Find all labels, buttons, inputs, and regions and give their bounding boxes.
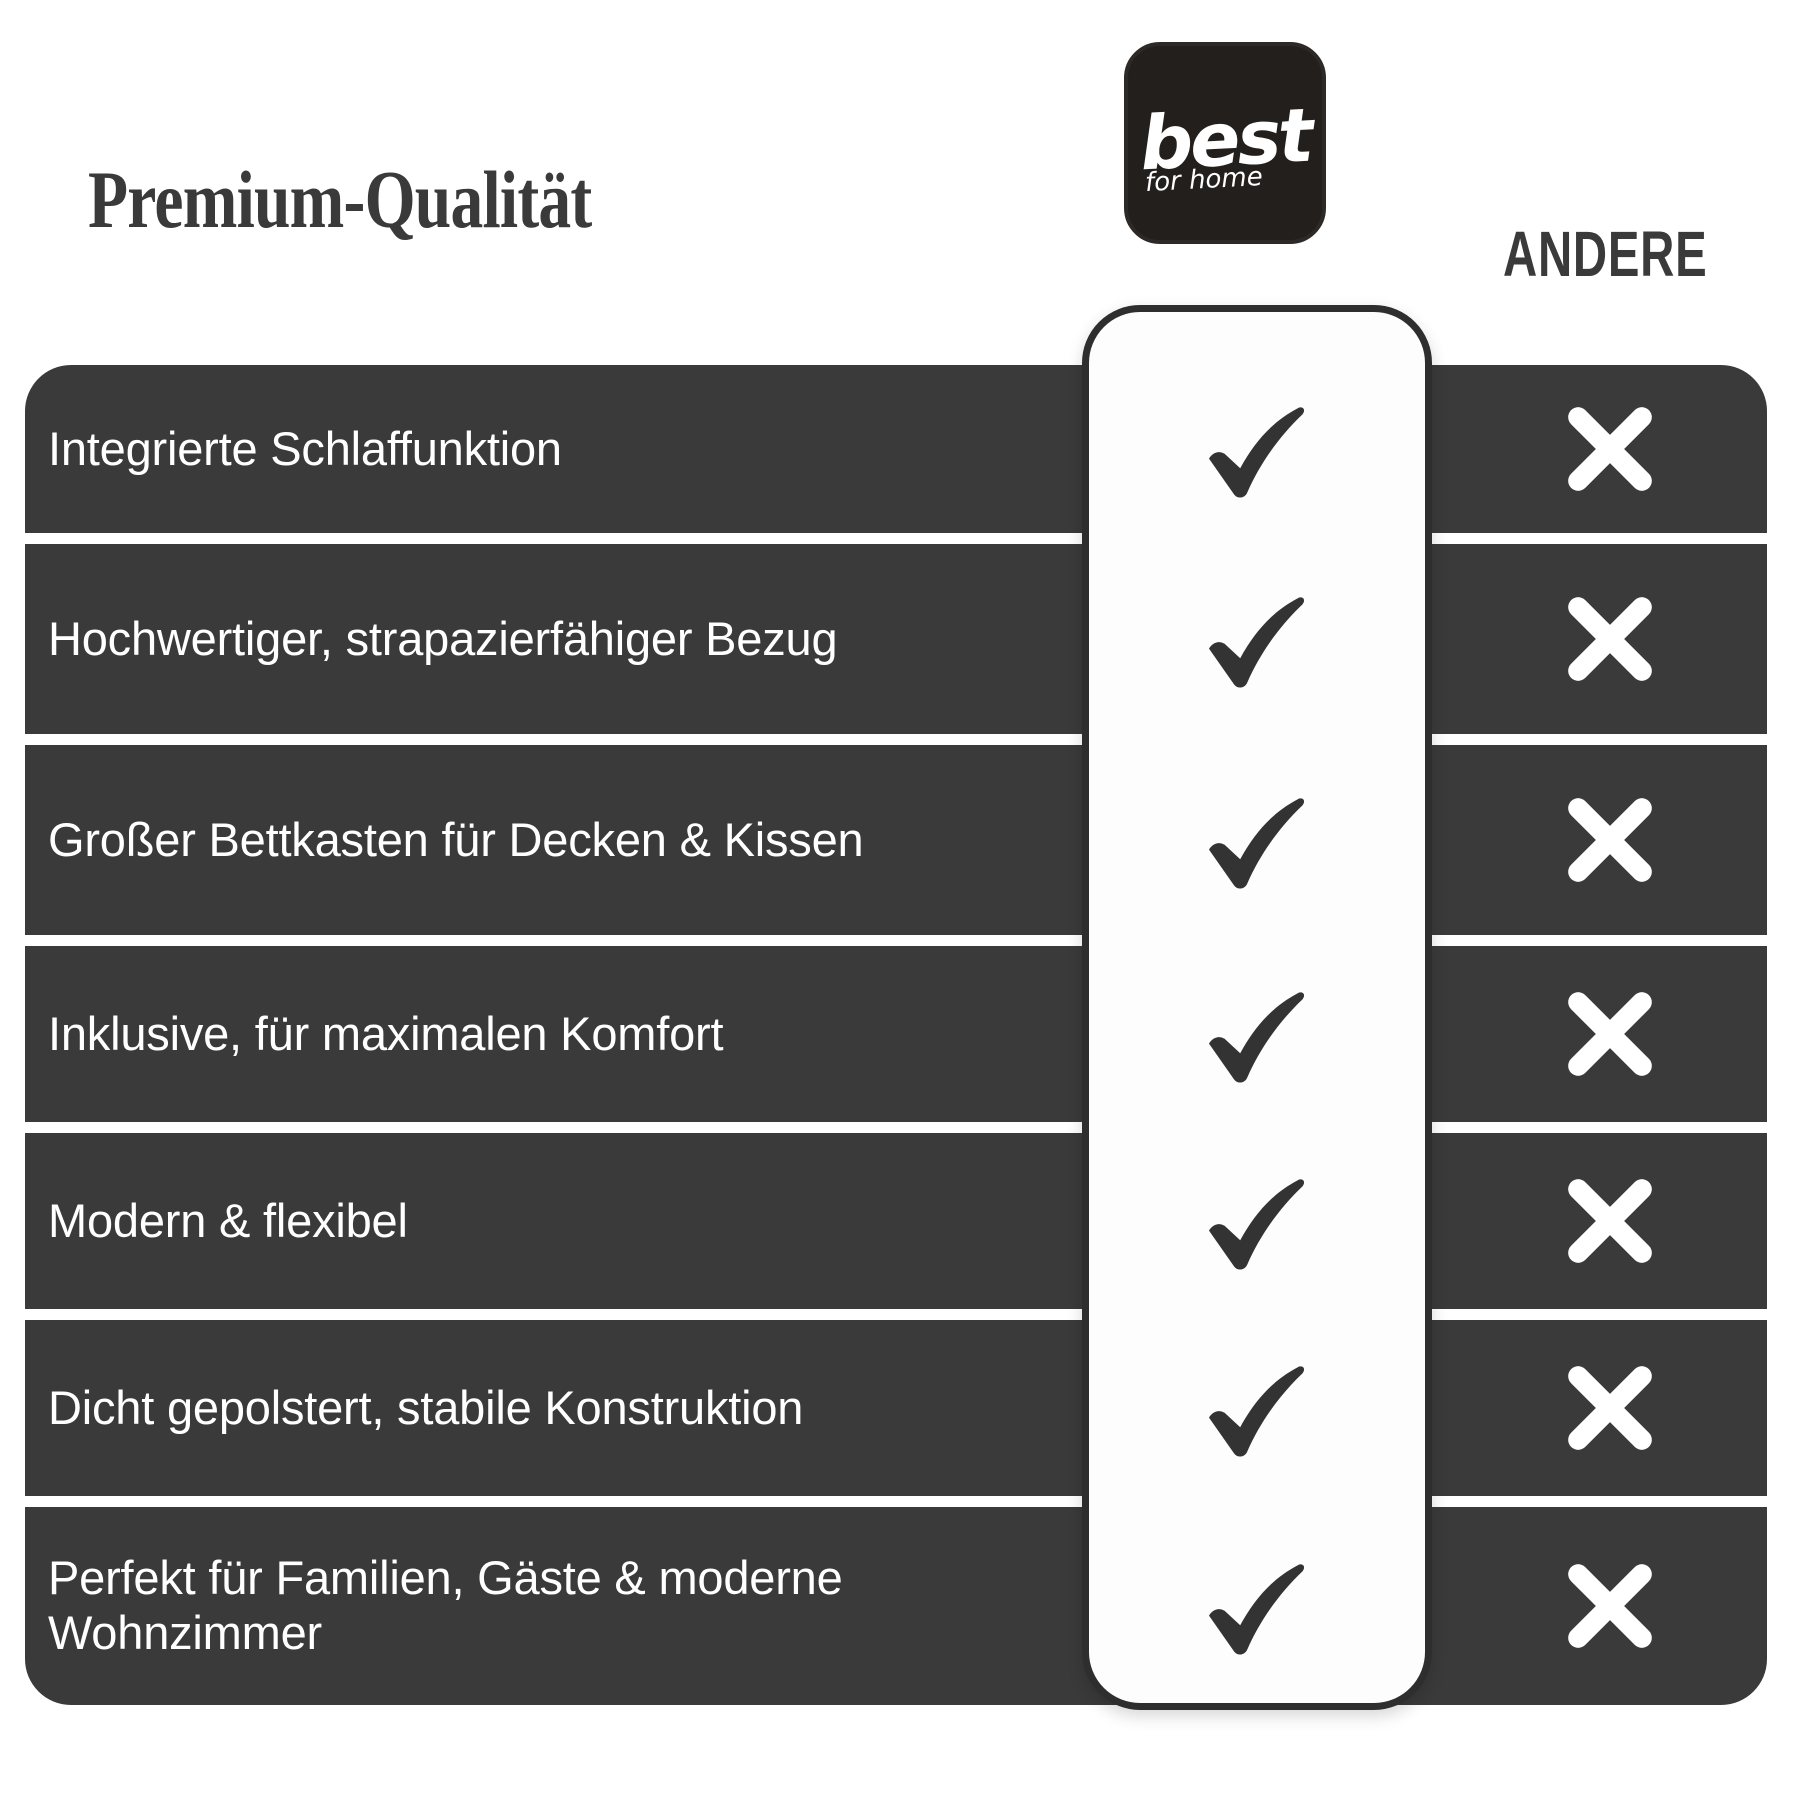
row-separator: [25, 935, 1767, 946]
cross-icon: [1495, 544, 1725, 734]
table-row: Dicht gepolstert, stabile Konstruktion: [25, 1320, 1767, 1496]
brand-tagline-text: for home: [1145, 164, 1264, 196]
cross-icon: [1495, 1320, 1725, 1496]
cross-icon: [1495, 1507, 1725, 1705]
table-row: Perfekt für Familien, Gäste & moderne Wo…: [25, 1507, 1767, 1705]
feature-label: Modern & flexibel: [48, 1194, 1108, 1249]
brand-logo: best for home: [1124, 42, 1326, 244]
cross-icon: [1495, 1133, 1725, 1309]
comparison-infographic: Premium-Qualität best for home ANDERE In…: [0, 0, 1800, 1800]
feature-label: Inklusive, für maximalen Komfort: [48, 1007, 1108, 1062]
row-separator: [25, 533, 1767, 544]
table-row: Modern & flexibel: [25, 1133, 1767, 1309]
table-row: Hochwertiger, strapazierfähiger Bezug: [25, 544, 1767, 734]
feature-label: Perfekt für Familien, Gäste & moderne Wo…: [48, 1551, 1108, 1660]
feature-label: Hochwertiger, strapazierfähiger Bezug: [48, 612, 1108, 667]
feature-label: Großer Bettkasten für Decken & Kissen: [48, 813, 1108, 868]
table-row: Großer Bettkasten für Decken & Kissen: [25, 745, 1767, 935]
table-row: Inklusive, für maximalen Komfort: [25, 946, 1767, 1122]
row-separator: [25, 734, 1767, 745]
cross-icon: [1495, 946, 1725, 1122]
row-separator: [25, 1122, 1767, 1133]
brand-logo-inner: best for home: [1128, 46, 1322, 240]
feature-label: Dicht gepolstert, stabile Konstruktion: [48, 1381, 1108, 1436]
cross-icon: [1495, 365, 1725, 533]
feature-label: Integrierte Schlaffunktion: [48, 422, 1108, 477]
cross-icon: [1495, 745, 1725, 935]
comparison-table: Integrierte SchlaffunktionHochwertiger, …: [25, 365, 1767, 1650]
table-row: Integrierte Schlaffunktion: [25, 365, 1767, 533]
best-highlight-column: [1082, 305, 1432, 1710]
competitor-column-header: ANDERE: [1503, 222, 1707, 286]
page-title: Premium-Qualität: [88, 159, 591, 241]
row-separator: [25, 1496, 1767, 1507]
row-separator: [25, 1309, 1767, 1320]
